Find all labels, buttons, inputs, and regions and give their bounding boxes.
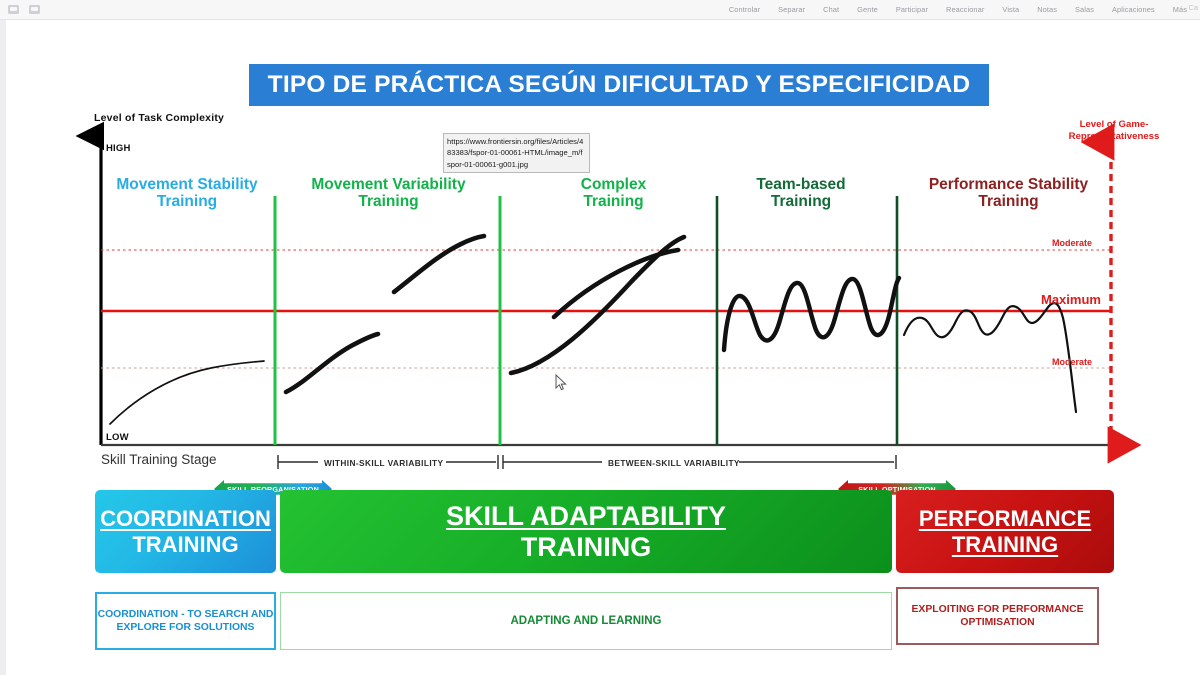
- right-axis-tick-moderate-top: Moderate: [1052, 238, 1092, 248]
- section-label-line2: Training: [771, 193, 831, 210]
- phase-bar-line2: TRAINING: [919, 532, 1091, 558]
- toolbar-item-vista[interactable]: Vista: [993, 5, 1028, 14]
- section-label-line1: Complex: [581, 176, 646, 193]
- bracket-label-within-skill-variability: WITHIN-SKILL VARIABILITY: [324, 458, 443, 468]
- toolbar-left-controls: [8, 5, 40, 14]
- caption-box-performance: EXPLOITING FOR PERFORMANCE OPTIMISATION: [896, 587, 1099, 645]
- toolbar-item-gente[interactable]: Gente: [848, 5, 887, 14]
- practice-type-figure: Level of Task Complexity HIGH LOW Level …: [6, 20, 1200, 675]
- section-label-line1: Movement Stability: [116, 176, 257, 193]
- toolbar-item-participar[interactable]: Participar: [887, 5, 937, 14]
- x-axis-title: Skill Training Stage: [101, 452, 217, 467]
- section-label-complex: Complex Training: [536, 176, 691, 210]
- toolbar-item-salas[interactable]: Salas: [1066, 5, 1103, 14]
- y-axis-tick-low: LOW: [106, 432, 129, 443]
- phase-bar-line1: PERFORMANCE: [919, 506, 1091, 532]
- right-axis-tick-moderate-bottom: Moderate: [1052, 357, 1092, 367]
- link-url-tooltip: https://www.frontiersin.org/files/Articl…: [443, 133, 590, 173]
- bracket-label-between-skill-variability: BETWEEN-SKILL VARIABILITY: [608, 458, 740, 468]
- toolbar-menu: Controlar Separar Chat Gente Participar …: [720, 5, 1200, 14]
- phase-bar-text: PERFORMANCE TRAINING: [919, 506, 1091, 558]
- toolbar-item-reaccionar[interactable]: Reaccionar: [937, 5, 993, 14]
- phase-bar-line2: TRAINING: [446, 532, 726, 563]
- camera-icon[interactable]: [8, 5, 19, 14]
- toolbar-item-aplicaciones[interactable]: Aplicaciones: [1103, 5, 1164, 14]
- section-label-line1: Performance Stability: [929, 176, 1088, 193]
- caption-box-coordination: COORDINATION - TO SEARCH AND EXPLORE FOR…: [95, 592, 276, 650]
- section-label-team-based: Team-based Training: [721, 176, 881, 210]
- phase-bar-line1: SKILL ADAPTABILITY: [446, 501, 726, 532]
- right-axis-title: Level of Game-Representativeness: [1054, 119, 1174, 143]
- toolbar-item-overflow[interactable]: Ca: [1189, 3, 1198, 12]
- phase-bar-skill-adaptability-training: SKILL ADAPTABILITY TRAINING: [280, 490, 892, 573]
- right-axis-tick-maximum: Maximum: [1041, 292, 1101, 307]
- section-label-line2: Training: [157, 193, 217, 210]
- phase-bar-text: SKILL ADAPTABILITY TRAINING: [446, 501, 726, 563]
- section-label-movement-variability: Movement Variability Training: [296, 176, 481, 210]
- toolbar-item-controlar[interactable]: Controlar: [720, 5, 769, 14]
- slide-content: TIPO DE PRÁCTICA SEGÚN DIFICULTAD Y ESPE…: [6, 20, 1200, 675]
- section-label-movement-stability: Movement Stability Training: [102, 176, 272, 210]
- section-label-line2: Training: [583, 193, 643, 210]
- meeting-toolbar: Controlar Separar Chat Gente Participar …: [0, 0, 1200, 20]
- toolbar-item-notas[interactable]: Notas: [1028, 5, 1066, 14]
- phase-bar-line1: COORDINATION: [100, 506, 271, 532]
- phase-bar-coordination-training: COORDINATION TRAINING: [95, 490, 276, 573]
- phase-bar-performance-training: PERFORMANCE TRAINING: [896, 490, 1114, 573]
- caption-box-adapting: ADAPTING AND LEARNING: [280, 592, 892, 650]
- phase-bar-text: COORDINATION TRAINING: [100, 506, 271, 558]
- section-label-line1: Movement Variability: [311, 176, 465, 193]
- section-label-performance-stability: Performance Stability Training: [911, 176, 1106, 210]
- phase-bar-line2: TRAINING: [100, 532, 271, 558]
- microphone-icon[interactable]: [29, 5, 40, 14]
- y-axis-title: Level of Task Complexity: [94, 112, 224, 124]
- mouse-cursor: [555, 374, 567, 392]
- section-label-line2: Training: [978, 193, 1038, 210]
- y-axis-tick-high: HIGH: [106, 143, 131, 154]
- shared-screen-slide: TIPO DE PRÁCTICA SEGÚN DIFICULTAD Y ESPE…: [0, 20, 1200, 675]
- toolbar-item-chat[interactable]: Chat: [814, 5, 848, 14]
- section-label-line1: Team-based: [756, 176, 845, 193]
- toolbar-item-separar[interactable]: Separar: [769, 5, 814, 14]
- section-label-line2: Training: [358, 193, 418, 210]
